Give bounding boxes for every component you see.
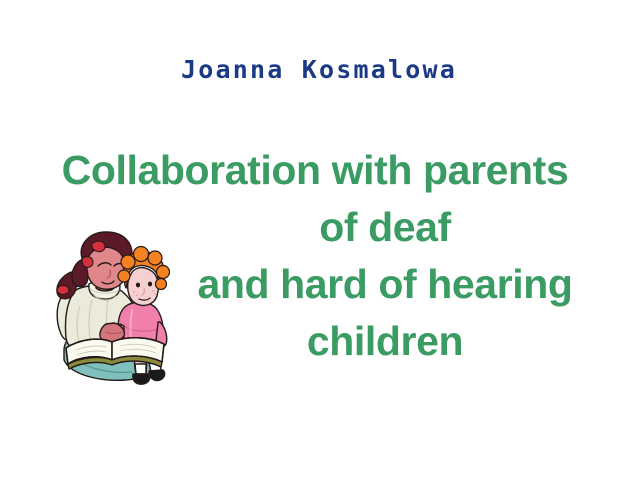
slide-canvas: Joanna Kosmalowa Collaboration with pare… — [0, 0, 638, 479]
title-line-1: Collaboration with parents — [0, 142, 638, 199]
author-name: Joanna Kosmalowa — [0, 54, 638, 86]
woman-and-child-reading-illustration — [48, 228, 184, 392]
